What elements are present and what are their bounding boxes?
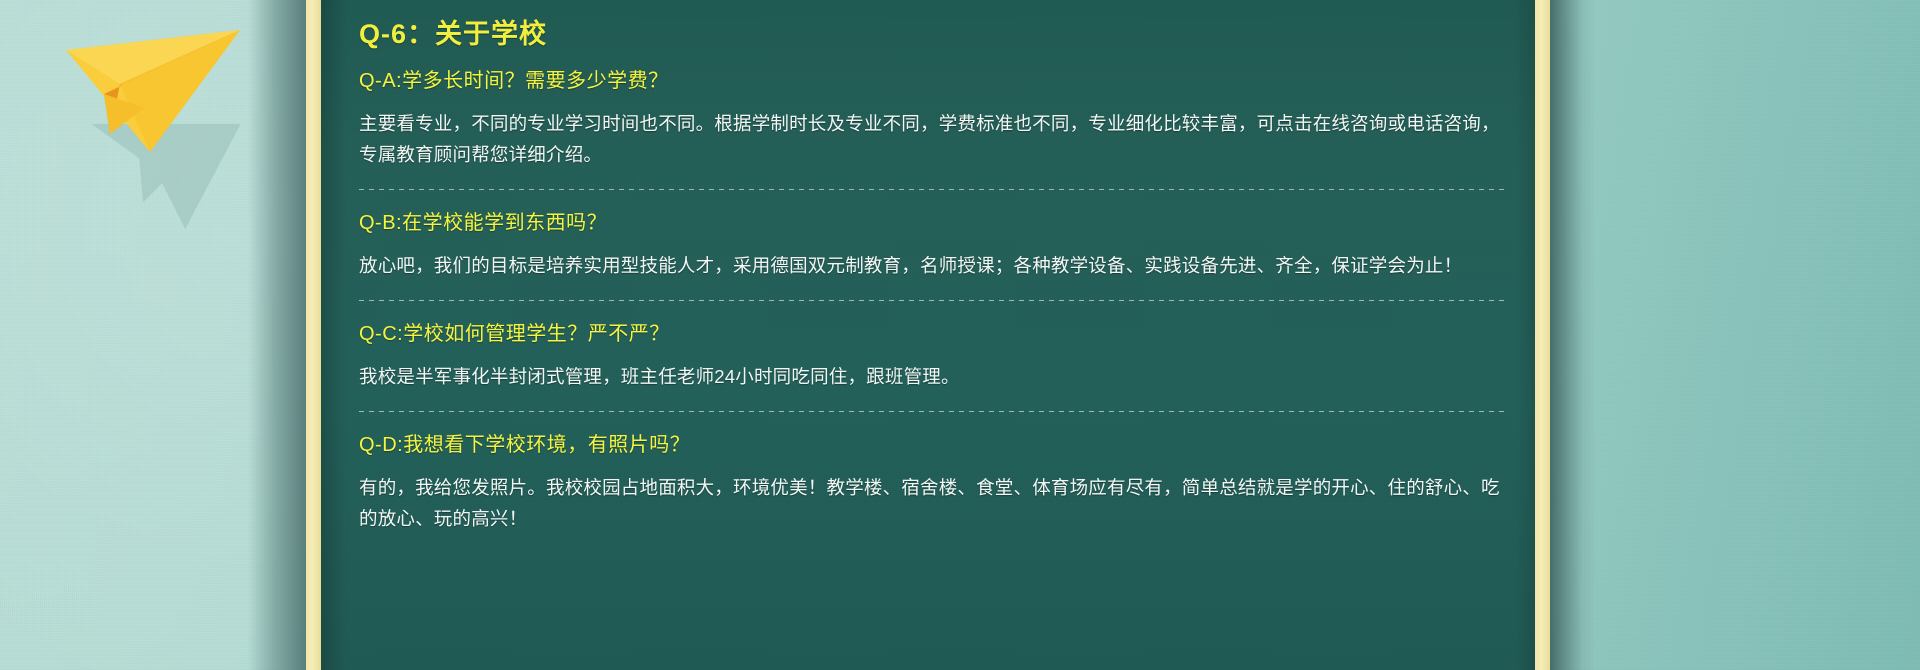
faq-item-b: Q-B:在学校能学到东西吗？ 放心吧，我们的目标是培养实用型技能人才，采用德国双… [359,208,1505,281]
faq-answer-a: 主要看专业，不同的专业学习时间也不同。根据学制时长及专业不同，学费标准也不同，专… [359,108,1505,170]
faq-panel: Q-6：关于学校 Q-A:学多长时间？需要多少学费？ 主要看专业，不同的专业学习… [321,0,1535,670]
faq-answer-c: 我校是半军事化半封闭式管理，班主任老师24小时同吃同住，跟班管理。 [359,361,1505,392]
faq-question-a: Q-A:学多长时间？需要多少学费？ [359,66,1505,96]
faq-answer-d: 有的，我给您发照片。我校校园占地面积大，环境优美！教学楼、宿舍楼、食堂、体育场应… [359,472,1505,534]
panel-right-border [1535,0,1550,670]
faq-item-d: Q-D:我想看下学校环境，有照片吗？ 有的，我给您发照片。我校校园占地面积大，环… [359,430,1505,534]
panel-left-border [306,0,321,670]
page-title: Q-6：关于学校 [359,16,1505,54]
faq-divider-1 [359,189,1505,190]
paper-plane-icon [58,22,248,162]
faq-question-b: Q-B:在学校能学到东西吗？ [359,208,1505,238]
faq-item-c: Q-C:学校如何管理学生？严不严？ 我校是半军事化半封闭式管理，班主任老师24小… [359,319,1505,392]
faq-answer-b: 放心吧，我们的目标是培养实用型技能人才，采用德国双元制教育，名师授课；各种教学设… [359,250,1505,281]
faq-divider-2 [359,300,1505,301]
faq-question-c: Q-C:学校如何管理学生？严不严？ [359,319,1505,349]
faq-question-d: Q-D:我想看下学校环境，有照片吗？ [359,430,1505,460]
right-wall-shadow [1550,0,1596,670]
paper-plane-illustration [58,22,258,202]
faq-item-a: Q-A:学多长时间？需要多少学费？ 主要看专业，不同的专业学习时间也不同。根据学… [359,66,1505,170]
faq-divider-3 [359,411,1505,412]
